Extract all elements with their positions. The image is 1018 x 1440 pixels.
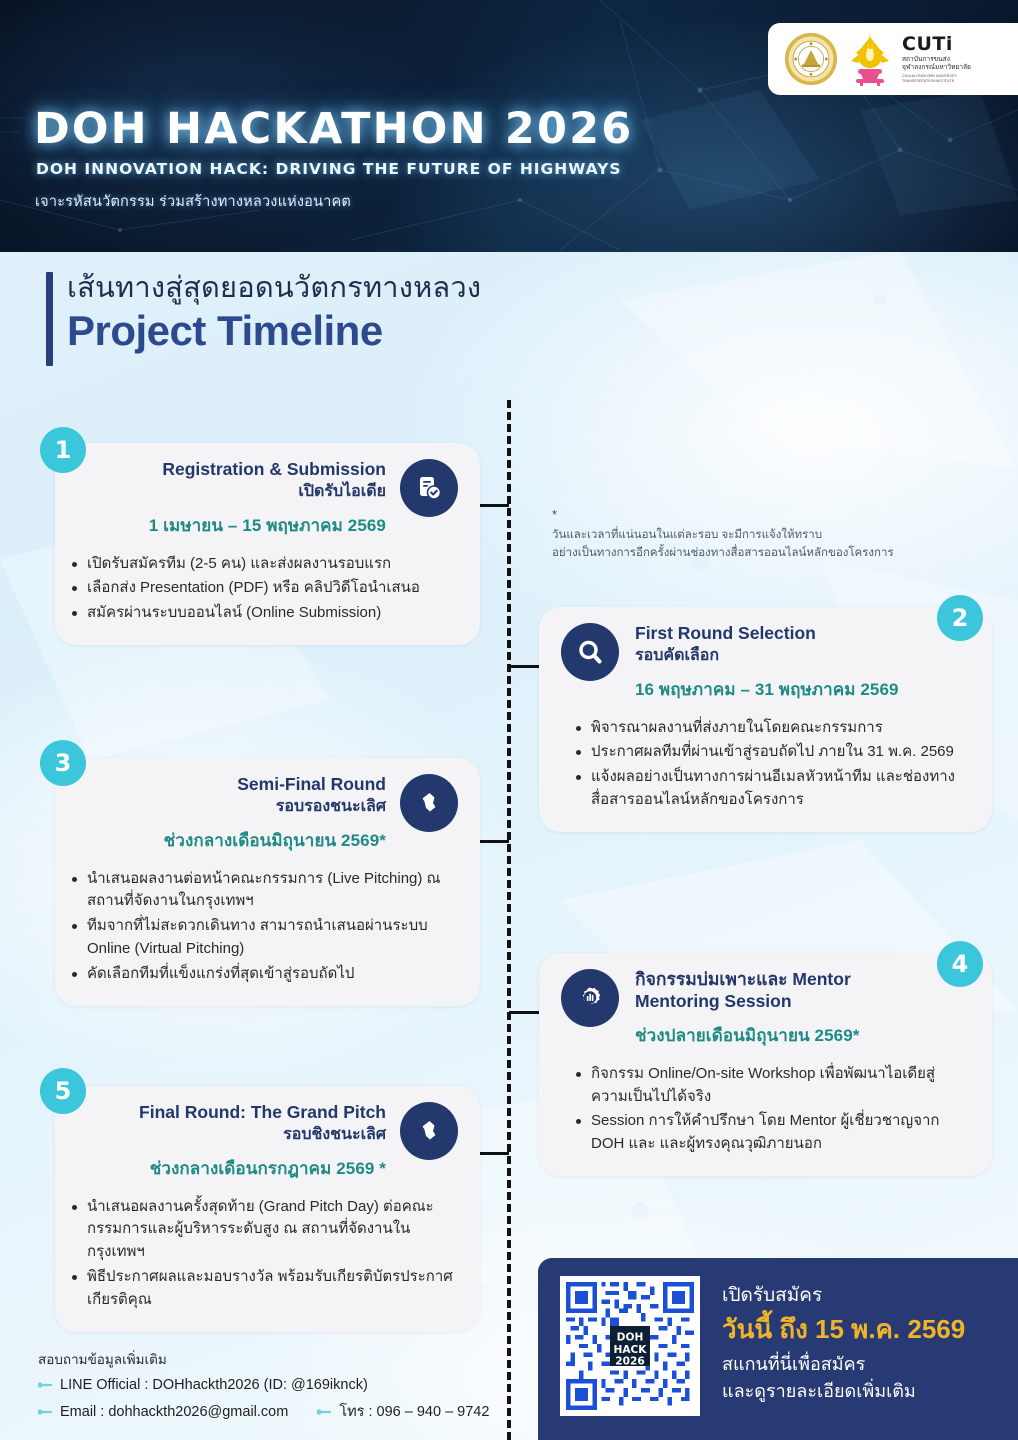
page-title: Project Timeline <box>67 307 481 354</box>
card-1-title-th: เปิดรับไอเดีย <box>77 482 386 503</box>
card-3-head: Semi-Final Round รอบรองชนะเลิศ ช่วงกลางเ… <box>55 758 480 854</box>
card-4-titles: กิจกรรมบ่มเพาะและ Mentor Mentoring Sessi… <box>635 969 970 1049</box>
card-2-bullets: พิจารณาผลงานที่ส่งภายในโดยคณะกรรมการ ประ… <box>539 717 992 832</box>
card-1-title-en: Registration & Submission <box>77 459 386 481</box>
list-item: ทีมจากที่ไม่สะดวกเดินทาง สามารถนำเสนอผ่า… <box>87 915 458 961</box>
card-4-date: ช่วงปลายเดือนมิถุนายน 2569* <box>635 1022 970 1049</box>
registration-qr-panel: DOH HACK 2026 เปิดรับสมัคร วันนี้ ถึง 15… <box>538 1258 1018 1440</box>
heading-accent-bar <box>46 272 53 366</box>
card-5-date: ช่วงกลางเดือนกรกฎาคม 2569 * <box>77 1155 386 1182</box>
step-badge-3: 3 <box>40 740 86 786</box>
list-item: เลือกส่ง Presentation (PDF) หรือ คลิปวิด… <box>87 577 458 600</box>
step-badge-2: 2 <box>937 595 983 641</box>
dash-marker-icon <box>38 1408 53 1416</box>
card-5-bullets: นำเสนอผลงานครั้งสุดท้าย (Grand Pitch Day… <box>55 1196 480 1332</box>
trophy-icon <box>400 774 458 832</box>
card-4-title-th: Mentoring Session <box>635 991 970 1013</box>
logo-strip: CUTi สถาบันการขนส่ง จุฬาลงกรณ์มหาวิทยาลั… <box>768 23 1018 95</box>
card-2-date: 16 พฤษภาคม – 31 พฤษภาคม 2569 <box>635 676 970 703</box>
card-3-title-en: Semi-Final Round <box>77 774 386 796</box>
gear-chart-icon <box>561 969 619 1027</box>
event-title: DOH HACKATHON 2026 <box>34 104 633 154</box>
card-3-titles: Semi-Final Round รอบรองชนะเลิศ ช่วงกลางเ… <box>77 774 386 854</box>
poster-header: DOH HACKATHON 2026 DOH INNOVATION HACK: … <box>0 0 1018 252</box>
qr-text-block: เปิดรับสมัคร วันนี้ ถึง 15 พ.ค. 2569 สแก… <box>722 1276 965 1405</box>
heading-eyebrow: เส้นทางสู่สุดยอดนวัตกรทางหลวง <box>67 272 481 305</box>
card-5-head: Final Round: The Grand Pitch รอบชิงชนะเล… <box>55 1086 480 1182</box>
note-asterisk: * <box>552 508 952 521</box>
list-item: กิจกรรม Online/On-site Workshop เพื่อพัฒ… <box>591 1063 970 1109</box>
cuti-name-th: สถาบันการขนส่ง จุฬาลงกรณ์มหาวิทยาลัย <box>902 56 971 72</box>
card-2-head: First Round Selection รอบคัดเลือก 16 พฤษ… <box>539 607 992 703</box>
list-item: แจ้งผลอย่างเป็นทางการผ่านอีเมลหัวหน้าทีม… <box>591 766 970 812</box>
list-item: นำเสนอผลงานครั้งสุดท้าย (Grand Pitch Day… <box>87 1196 458 1264</box>
card-1-titles: Registration & Submission เปิดรับไอเดีย … <box>77 459 386 539</box>
list-item: Session การให้คำปรึกษา โดย Mentor ผู้เชี… <box>591 1110 970 1156</box>
contact-heading: สอบถามข้อมูลเพิ่มเติม <box>38 1348 508 1370</box>
timeline-card-4[interactable]: กิจกรรมบ่มเพาะและ Mentor Mentoring Sessi… <box>539 953 992 1176</box>
qr-line-4: และดูรายละเอียดเพิ่มเติม <box>722 1378 965 1405</box>
chulalongkorn-phra-kiao-icon <box>848 31 892 87</box>
card-1-bullets: เปิดรับสมัครทีม (2-5 คน) และส่งผลงานรอบแ… <box>55 553 480 645</box>
svg-text:DOH: DOH <box>617 1332 644 1344</box>
timeline-note: * วันและเวลาที่แน่นอนในแต่ละรอบ จะมีการแ… <box>552 508 952 563</box>
contact-phone-row[interactable]: โทร : 096 – 940 – 9742 <box>317 1400 489 1423</box>
event-tagline-en: DOH INNOVATION HACK: DRIVING THE FUTURE … <box>36 160 622 178</box>
cuti-wordmark: CUTi สถาบันการขนส่ง จุฬาลงกรณ์มหาวิทยาลั… <box>902 35 971 84</box>
contact-line-label: LINE Official : DOHhackth2026 (ID: @169i… <box>60 1377 368 1393</box>
qr-line-3: สแกนที่นี่เพื่อสมัคร <box>722 1351 965 1378</box>
cuti-name-en: CHULALONGKORN UNIVERSITY TRANSPORTATION … <box>902 74 971 83</box>
timeline-card-3[interactable]: Semi-Final Round รอบรองชนะเลิศ ช่วงกลางเ… <box>55 758 480 1006</box>
card-2-title-th: รอบคัดเลือก <box>635 646 970 667</box>
contact-phone-label: โทร : 096 – 940 – 9742 <box>339 1400 489 1423</box>
timeline-spine <box>507 400 511 1440</box>
qr-deadline: วันนี้ ถึง 15 พ.ค. 2569 <box>722 1312 965 1347</box>
contact-email-label: Email : dohhackth2026@gmail.com <box>60 1404 288 1420</box>
list-item: สมัครผ่านระบบออนไลน์ (Online Submission) <box>87 602 458 625</box>
list-item: ประกาศผลทีมที่ผ่านเข้าสู่รอบถัดไป ภายใน … <box>591 741 970 764</box>
card-1-head: Registration & Submission เปิดรับไอเดีย … <box>55 443 480 539</box>
timeline-card-1[interactable]: Registration & Submission เปิดรับไอเดีย … <box>55 443 480 645</box>
card-3-title-th: รอบรองชนะเลิศ <box>77 797 386 818</box>
list-item: พิธีประกาศผลและมอบรางวัล พร้อมรับเกียรติ… <box>87 1266 458 1312</box>
card-2-title-en: First Round Selection <box>635 623 970 645</box>
list-item: คัดเลือกทีมที่แข็งแกร่งที่สุดเข้าสู่รอบถ… <box>87 963 458 986</box>
note-line-2: อย่างเป็นทางการอีกครั้งผ่านช่องทางสื่อสา… <box>552 545 952 563</box>
contact-line-row[interactable]: LINE Official : DOHhackth2026 (ID: @169i… <box>38 1377 508 1393</box>
card-4-head: กิจกรรมบ่มเพาะและ Mentor Mentoring Sessi… <box>539 953 992 1049</box>
card-2-titles: First Round Selection รอบคัดเลือก 16 พฤษ… <box>635 623 970 703</box>
department-of-highways-seal-icon <box>784 32 838 86</box>
svg-text:2026: 2026 <box>615 1356 644 1368</box>
card-3-date: ช่วงกลางเดือนมิถุนายน 2569* <box>77 827 386 854</box>
document-check-icon <box>400 459 458 517</box>
list-item: นำเสนอผลงานต่อหน้าคณะกรรมการ (Live Pitch… <box>87 868 458 914</box>
card-5-title-th: รอบชิงชนะเลิศ <box>77 1125 386 1146</box>
poster-page: DOH HACKATHON 2026 DOH INNOVATION HACK: … <box>0 0 1018 1440</box>
note-line-1: วันและเวลาที่แน่นอนในแต่ละรอบ จะมีการแจ้… <box>552 527 952 545</box>
timeline-card-2[interactable]: First Round Selection รอบคัดเลือก 16 พฤษ… <box>539 607 992 832</box>
section-heading: เส้นทางสู่สุดยอดนวัตกรทางหลวง Project Ti… <box>46 272 481 366</box>
step-badge-1: 1 <box>40 427 86 473</box>
contact-block: สอบถามข้อมูลเพิ่มเติม LINE Official : DO… <box>38 1348 508 1423</box>
event-tagline-th: เจาะรหัสนวัตกรรม ร่วมสร้างทางหลวงแห่งอนา… <box>35 190 351 213</box>
step-badge-4: 4 <box>937 941 983 987</box>
list-item: เปิดรับสมัครทีม (2-5 คน) และส่งผลงานรอบแ… <box>87 553 458 576</box>
list-item: พิจารณาผลงานที่ส่งภายในโดยคณะกรรมการ <box>591 717 970 740</box>
timeline-card-5[interactable]: Final Round: The Grand Pitch รอบชิงชนะเล… <box>55 1086 480 1332</box>
card-5-title-en: Final Round: The Grand Pitch <box>77 1102 386 1124</box>
cuti-name: CUTi <box>902 35 971 54</box>
qr-code-graphic: DOH HACK 2026 <box>566 1282 694 1410</box>
search-magnifier-icon <box>561 623 619 681</box>
card-4-bullets: กิจกรรม Online/On-site Workshop เพื่อพัฒ… <box>539 1063 992 1176</box>
step-badge-5: 5 <box>40 1068 86 1114</box>
card-3-bullets: นำเสนอผลงานต่อหน้าคณะกรรมการ (Live Pitch… <box>55 868 480 1006</box>
dash-marker-icon <box>317 1408 332 1416</box>
card-1-date: 1 เมษายน – 15 พฤษภาคม 2569 <box>77 512 386 539</box>
trophy-icon <box>400 1102 458 1160</box>
card-5-titles: Final Round: The Grand Pitch รอบชิงชนะเล… <box>77 1102 386 1182</box>
qr-code[interactable]: DOH HACK 2026 <box>560 1276 700 1416</box>
dash-marker-icon <box>38 1381 53 1389</box>
svg-text:HACK: HACK <box>614 1344 648 1356</box>
qr-line-1: เปิดรับสมัคร <box>722 1282 965 1310</box>
contact-email-row[interactable]: Email : dohhackth2026@gmail.com โทร : 09… <box>38 1400 508 1423</box>
card-4-title-en: กิจกรรมบ่มเพาะและ Mentor <box>635 969 970 991</box>
